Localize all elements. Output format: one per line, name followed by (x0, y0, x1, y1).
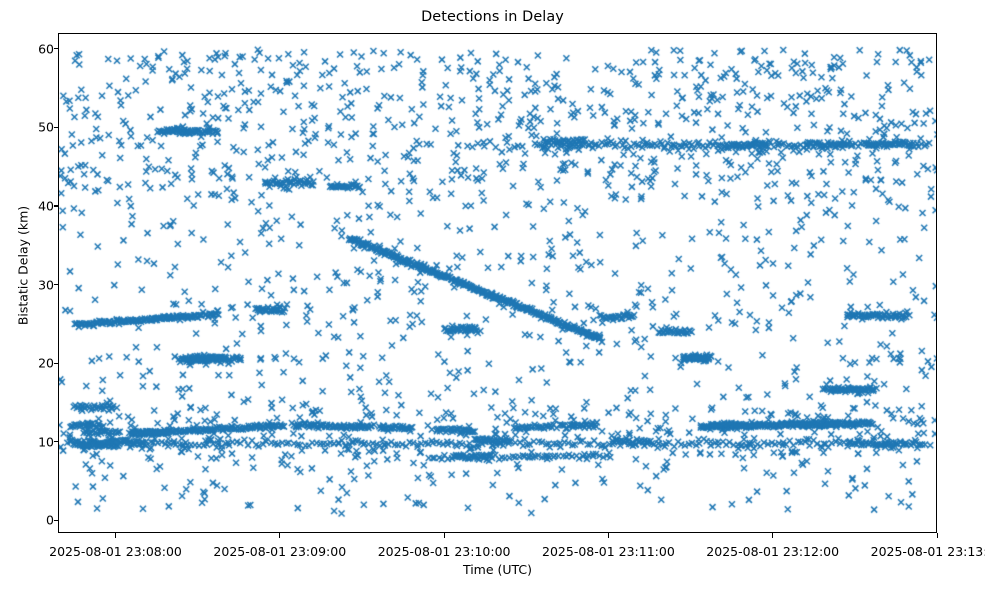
y-axis-tick-label: 60 (10, 41, 54, 56)
y-axis-tick-labels: 0102030405060 (4, 33, 54, 533)
y-axis-tick-label: 10 (10, 434, 54, 449)
x-axis-tick-mark (608, 533, 609, 538)
y-axis-tick-label: 20 (10, 356, 54, 371)
chart-title: Detections in Delay (0, 8, 985, 26)
x-axis-tick-mark (279, 533, 280, 538)
x-axis-tick-label: 2025-08-01 23:12:00 (706, 544, 839, 559)
y-axis-tick-label: 50 (10, 120, 54, 135)
x-axis-label: Time (UTC) (58, 562, 937, 577)
x-axis-tick-mark (115, 533, 116, 538)
x-axis-tick-mark (937, 533, 938, 538)
y-axis-tick-label: 0 (10, 513, 54, 528)
plot-area (58, 33, 937, 533)
x-axis-tick-label: 2025-08-01 23:10:00 (378, 544, 511, 559)
x-axis-tick-label: 2025-08-01 23:09:00 (213, 544, 346, 559)
x-axis-tick-mark (772, 533, 773, 538)
x-axis-tick-label: 2025-08-01 23:13:00 (871, 544, 985, 559)
x-axis-tick-mark (444, 533, 445, 538)
y-axis-tick-label: 40 (10, 198, 54, 213)
scatter-plot-canvas (59, 34, 937, 533)
chart-figure: Detections in Delay Bistatic Delay (km) … (0, 0, 985, 590)
x-axis-tick-label: 2025-08-01 23:11:00 (542, 544, 675, 559)
x-axis-tick-labels: 2025-08-01 23:08:002025-08-01 23:09:0020… (58, 538, 937, 558)
y-axis-tick-label: 30 (10, 277, 54, 292)
x-axis-tick-label: 2025-08-01 23:08:00 (49, 544, 182, 559)
